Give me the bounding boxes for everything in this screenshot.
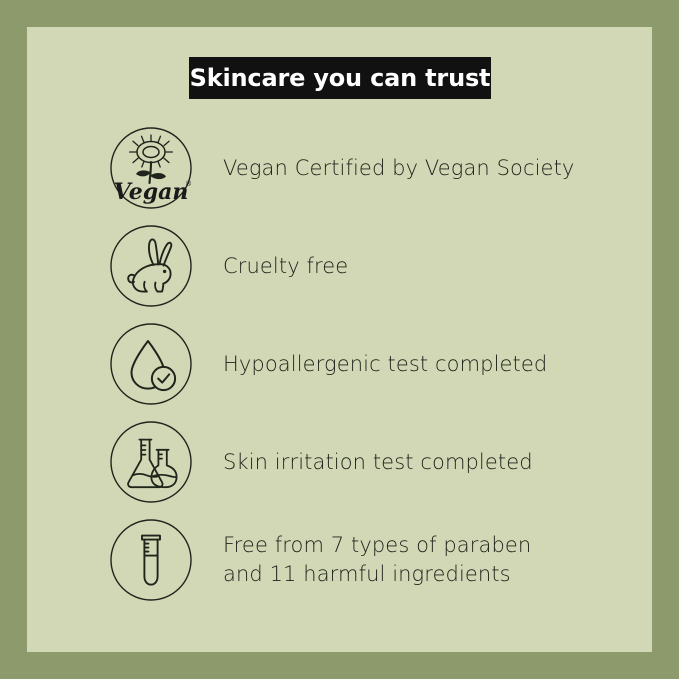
claim-label: Hypoallergenic test completed xyxy=(223,350,547,379)
claim-row-vegan-certified: Vegan ® Vegan Certified by Vegan Society xyxy=(106,123,626,213)
rabbit-icon xyxy=(106,221,196,311)
claim-row-free-from-parabens: Free from 7 types of paraben and 11 harm… xyxy=(106,515,626,605)
vegan-society-sunflower-logo: Vegan ® xyxy=(106,123,196,213)
claim-label: Skin irritation test completed xyxy=(223,448,533,477)
poster-frame: Skincare you can trust xyxy=(0,0,679,679)
claim-row-hypoallergenic: Hypoallergenic test completed xyxy=(106,319,626,409)
svg-text:®: ® xyxy=(185,180,192,188)
claim-row-skin-irritation: Skin irritation test completed xyxy=(106,417,626,507)
claim-label: Cruelty free xyxy=(223,252,348,281)
claim-label: Vegan Certified by Vegan Society xyxy=(223,154,574,183)
test-tube-icon xyxy=(106,515,196,605)
title-banner: Skincare you can trust xyxy=(189,57,491,99)
claim-row-cruelty-free: Cruelty free xyxy=(106,221,626,311)
flasks-icon xyxy=(106,417,196,507)
poster-panel: Skincare you can trust xyxy=(27,27,652,652)
claim-label: Free from 7 types of paraben and 11 harm… xyxy=(223,531,531,589)
droplet-check-icon xyxy=(106,319,196,409)
page-title: Skincare you can trust xyxy=(190,66,491,90)
vegan-wordmark: Vegan xyxy=(114,179,189,205)
